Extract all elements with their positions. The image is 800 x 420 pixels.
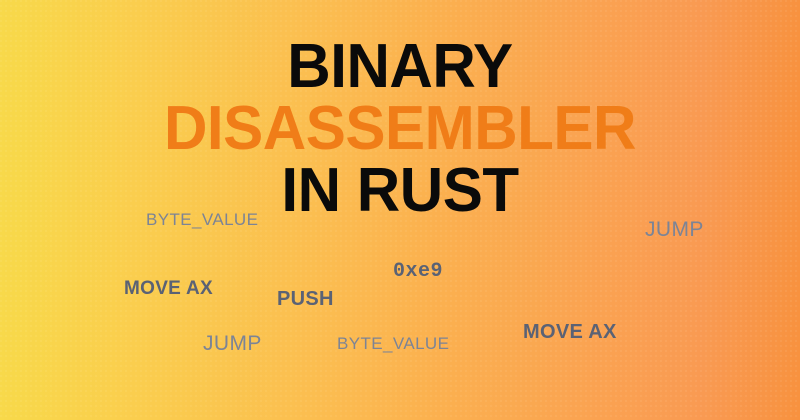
title-line-disassembler: DISASSEMBLER (12, 98, 788, 160)
promo-banner: BINARY DISASSEMBLER IN RUST BYTE_VALUEJU… (0, 0, 800, 420)
title-line-in-rust: IN RUST (12, 160, 788, 222)
banner-title: BINARY DISASSEMBLER IN RUST (0, 36, 800, 222)
title-line-binary: BINARY (12, 36, 788, 98)
keyword-label: MOVE AX (124, 278, 213, 300)
keyword-label: PUSH (277, 288, 334, 311)
keyword-label: BYTE_VALUE (337, 334, 449, 354)
keyword-label: MOVE AX (523, 321, 617, 344)
keyword-label: 0xe9 (393, 260, 443, 283)
keyword-label: JUMP (203, 332, 262, 356)
